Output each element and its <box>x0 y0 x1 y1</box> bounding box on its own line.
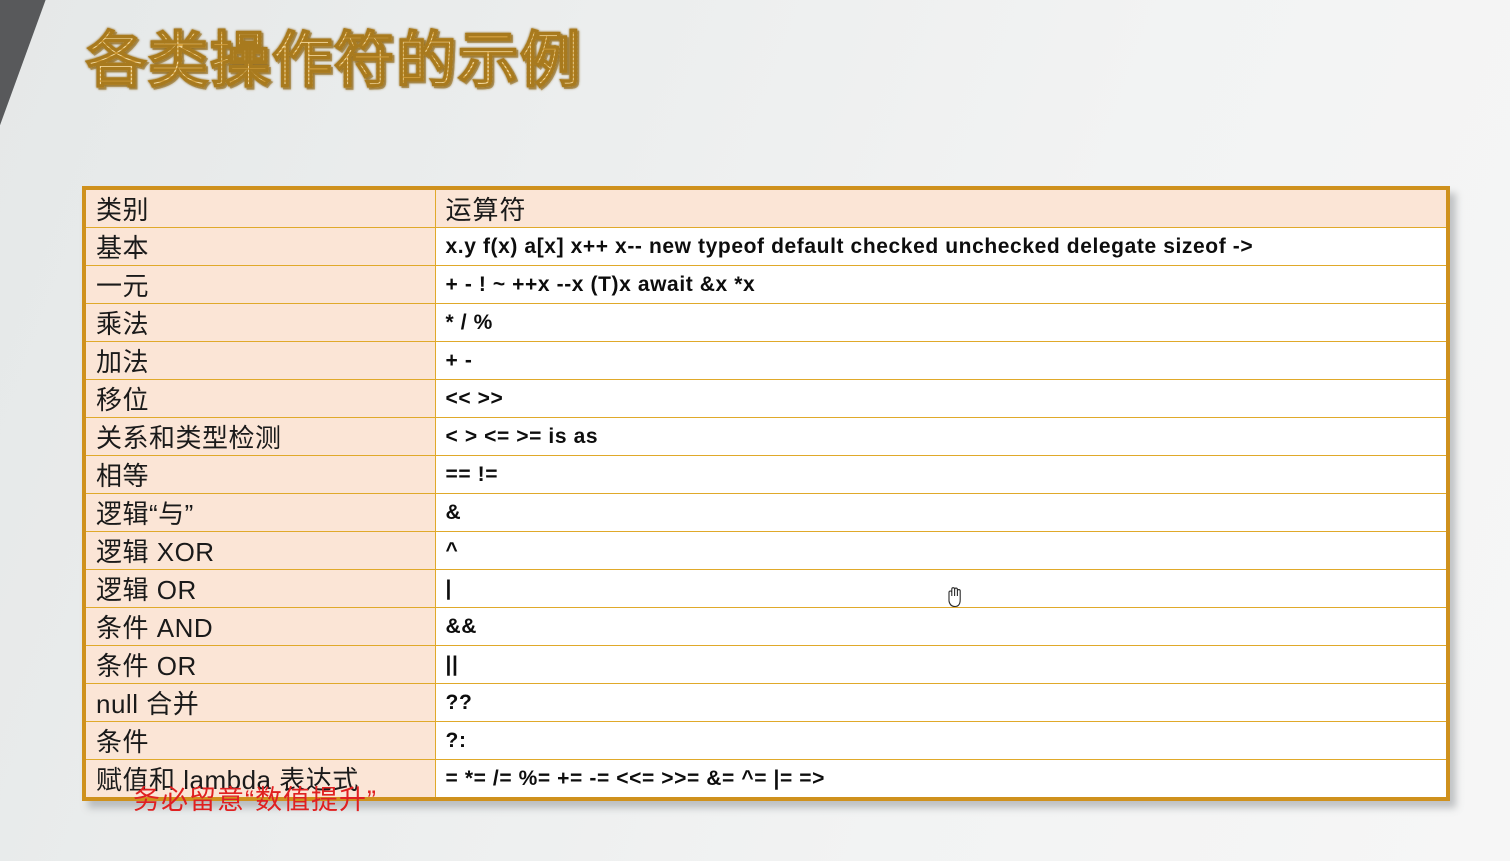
footnote-text: 务必留意“数值提升” <box>133 778 377 817</box>
cell-category: 逻辑 XOR <box>84 532 435 570</box>
table-header-row: 类别 运算符 <box>84 188 1448 228</box>
cell-category: 加法 <box>84 342 435 380</box>
cell-operators: | <box>435 570 1448 608</box>
decoration-gray-band-bottom <box>0 836 164 861</box>
cell-operators: || <box>435 646 1448 684</box>
table-row: 条件 OR|| <box>84 646 1448 684</box>
cell-category: null 合并 <box>84 684 435 722</box>
table-row: 基本x.y f(x) a[x] x++ x-- new typeof defau… <box>84 228 1448 266</box>
operator-table-container: 类别 运算符 基本x.y f(x) a[x] x++ x-- new typeo… <box>82 186 1450 801</box>
cell-operators: ?? <box>435 684 1448 722</box>
slide-canvas: 各类操作符的示例 类别 运算符 基本x.y f(x) a[x] x++ x-- … <box>0 0 1510 861</box>
cell-operators: * / % <box>435 304 1448 342</box>
table-row: 逻辑 XOR^ <box>84 532 1448 570</box>
table-row: 逻辑 OR| <box>84 570 1448 608</box>
cell-category: 乘法 <box>84 304 435 342</box>
cell-operators: + - <box>435 342 1448 380</box>
table-row: 一元+ - ! ~ ++x --x (T)x await &x *x <box>84 266 1448 304</box>
cell-category: 关系和类型检测 <box>84 418 435 456</box>
cell-operators: << >> <box>435 380 1448 418</box>
cell-operators: == != <box>435 456 1448 494</box>
cell-operators: & <box>435 494 1448 532</box>
table-row: 条件 AND&& <box>84 608 1448 646</box>
decoration-gray-band-top <box>0 0 52 640</box>
cell-category: 逻辑 OR <box>84 570 435 608</box>
operator-table: 类别 运算符 基本x.y f(x) a[x] x++ x-- new typeo… <box>82 186 1450 801</box>
cell-operators: = *= /= %= += -= <<= >>= &= ^= |= => <box>435 760 1448 800</box>
header-cell-category: 类别 <box>84 188 435 228</box>
header-cell-operators: 运算符 <box>435 188 1448 228</box>
cell-operators: ^ <box>435 532 1448 570</box>
table-row: 关系和类型检测< > <= >= is as <box>84 418 1448 456</box>
cell-operators: x.y f(x) a[x] x++ x-- new typeof default… <box>435 228 1448 266</box>
table-row: 加法+ - <box>84 342 1448 380</box>
table-row: 逻辑“与”& <box>84 494 1448 532</box>
slide-title: 各类操作符的示例 <box>86 18 582 104</box>
cell-category: 移位 <box>84 380 435 418</box>
cell-category: 相等 <box>84 456 435 494</box>
cell-category: 条件 OR <box>84 646 435 684</box>
decoration-white-gap-bottom <box>0 824 152 861</box>
cell-operators: ?: <box>435 722 1448 760</box>
cell-category: 一元 <box>84 266 435 304</box>
table-row: 乘法* / % <box>84 304 1448 342</box>
cell-category: 条件 AND <box>84 608 435 646</box>
table-row: null 合并?? <box>84 684 1448 722</box>
cell-operators: && <box>435 608 1448 646</box>
cell-category: 基本 <box>84 228 435 266</box>
cell-category: 条件 <box>84 722 435 760</box>
cell-category: 逻辑“与” <box>84 494 435 532</box>
cell-operators: + - ! ~ ++x --x (T)x await &x *x <box>435 266 1448 304</box>
table-row: 条件?: <box>84 722 1448 760</box>
cell-operators: < > <= >= is as <box>435 418 1448 456</box>
table-row: 相等== != <box>84 456 1448 494</box>
table-row: 移位<< >> <box>84 380 1448 418</box>
